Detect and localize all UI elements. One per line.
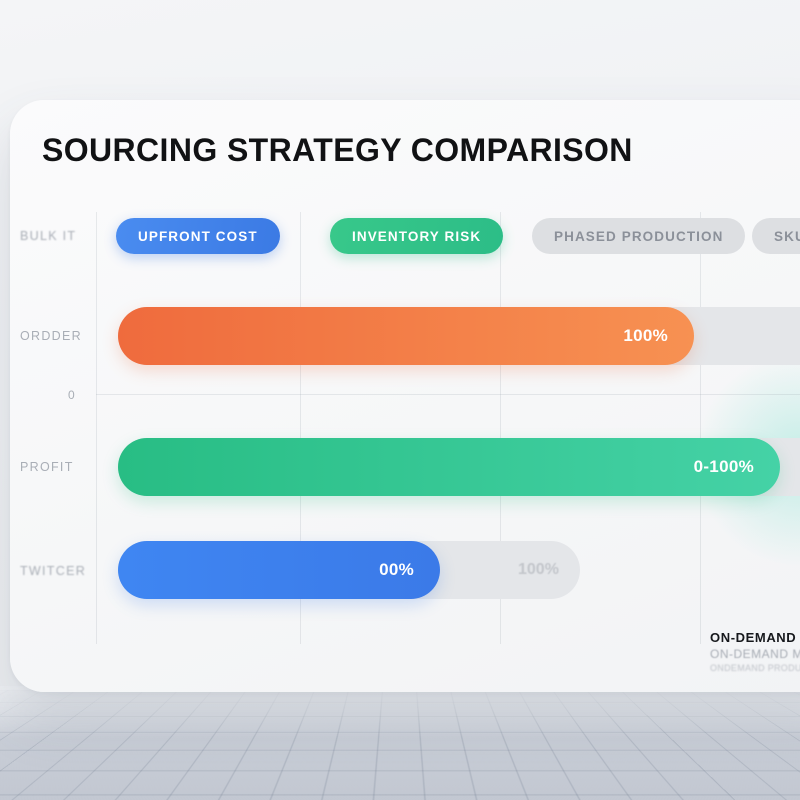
- column-header-phased-production[interactable]: PHASED PRODUCTION: [532, 218, 745, 254]
- page-title: SOURCING STRATEGY COMPARISON: [42, 132, 633, 169]
- bar-value-label: 00%: [379, 560, 414, 580]
- bar-value-label: 0-100%: [694, 457, 754, 477]
- axis-tick-zero: 0: [68, 388, 75, 402]
- grid-line-v: [96, 212, 97, 644]
- side-panel-subtitle: ON-DEMAND M: [710, 647, 800, 661]
- chart-area: UPFRONT COST INVENTORY RISK PHASED PRODU…: [10, 212, 800, 692]
- column-header-label: SKU CO: [774, 229, 800, 244]
- side-panel-caption: ONDEMAND PRODUCTION: [710, 663, 800, 673]
- row-label-ordder: ORDDER: [20, 329, 82, 343]
- comparison-card: SOURCING STRATEGY COMPARISON UPFRONT COS…: [10, 100, 800, 692]
- side-panel-title: ON-DEMAND: [710, 630, 800, 645]
- column-header-label: UPFRONT COST: [138, 229, 258, 244]
- column-header-sku-count[interactable]: SKU CO: [752, 218, 800, 254]
- column-header-inventory-risk[interactable]: INVENTORY RISK: [330, 218, 503, 254]
- bar-twitcer-phased-production[interactable]: 00%: [118, 541, 440, 599]
- bar-profit-inventory-risk[interactable]: 0-100%: [118, 438, 780, 496]
- bar-ordder-upfront-cost[interactable]: 100%: [118, 307, 694, 365]
- column-header-label: PHASED PRODUCTION: [554, 229, 723, 244]
- track-value-label: 100%: [518, 561, 559, 579]
- row-label-twitcer: TWITCER: [20, 564, 86, 578]
- grid-line-h: [96, 394, 800, 395]
- row-label-profit: PROFIT: [20, 460, 74, 474]
- grid-line-v: [700, 212, 701, 644]
- perspective-grid-floor: [0, 690, 800, 800]
- column-header-label: INVENTORY RISK: [352, 229, 481, 244]
- side-panel: ON-DEMAND ON-DEMAND M ONDEMAND PRODUCTIO…: [710, 630, 800, 692]
- column-header-upfront-cost[interactable]: UPFRONT COST: [116, 218, 280, 254]
- scene: SOURCING STRATEGY COMPARISON UPFRONT COS…: [0, 0, 800, 800]
- row-label-bulk: BULK IT: [20, 229, 76, 243]
- bar-value-label: 100%: [623, 326, 668, 346]
